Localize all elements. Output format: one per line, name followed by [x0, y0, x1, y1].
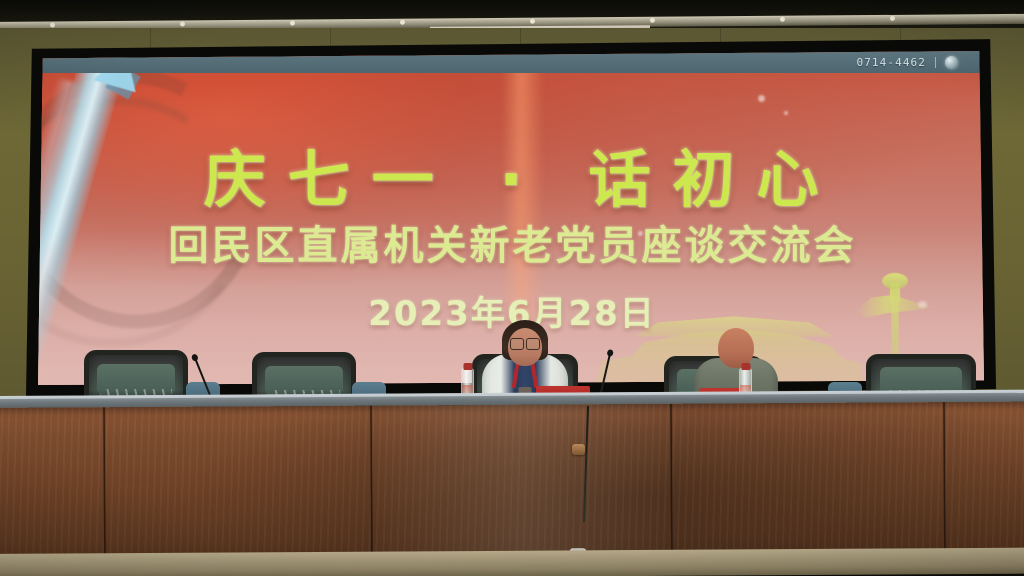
desk-front-panels: [0, 402, 1024, 572]
screenshot-stage: 庆七一 · 话初心 回民区直属机关新老党员座谈交流会 2023年6月28日 07…: [0, 0, 1024, 576]
status-bar-divider: [935, 57, 936, 68]
slide-subtitle: 回民区直属机关新老党员座谈交流会: [38, 213, 984, 271]
person-2-head: [718, 328, 754, 368]
desk-knob: [572, 444, 585, 455]
podium-desk: [0, 396, 1024, 576]
slide-title: 庆七一 · 话初心: [38, 129, 984, 219]
projector-lamp-icon: [945, 56, 958, 69]
person-1-glasses: [510, 338, 540, 348]
projector-source-code: 0714-4462: [856, 56, 926, 69]
